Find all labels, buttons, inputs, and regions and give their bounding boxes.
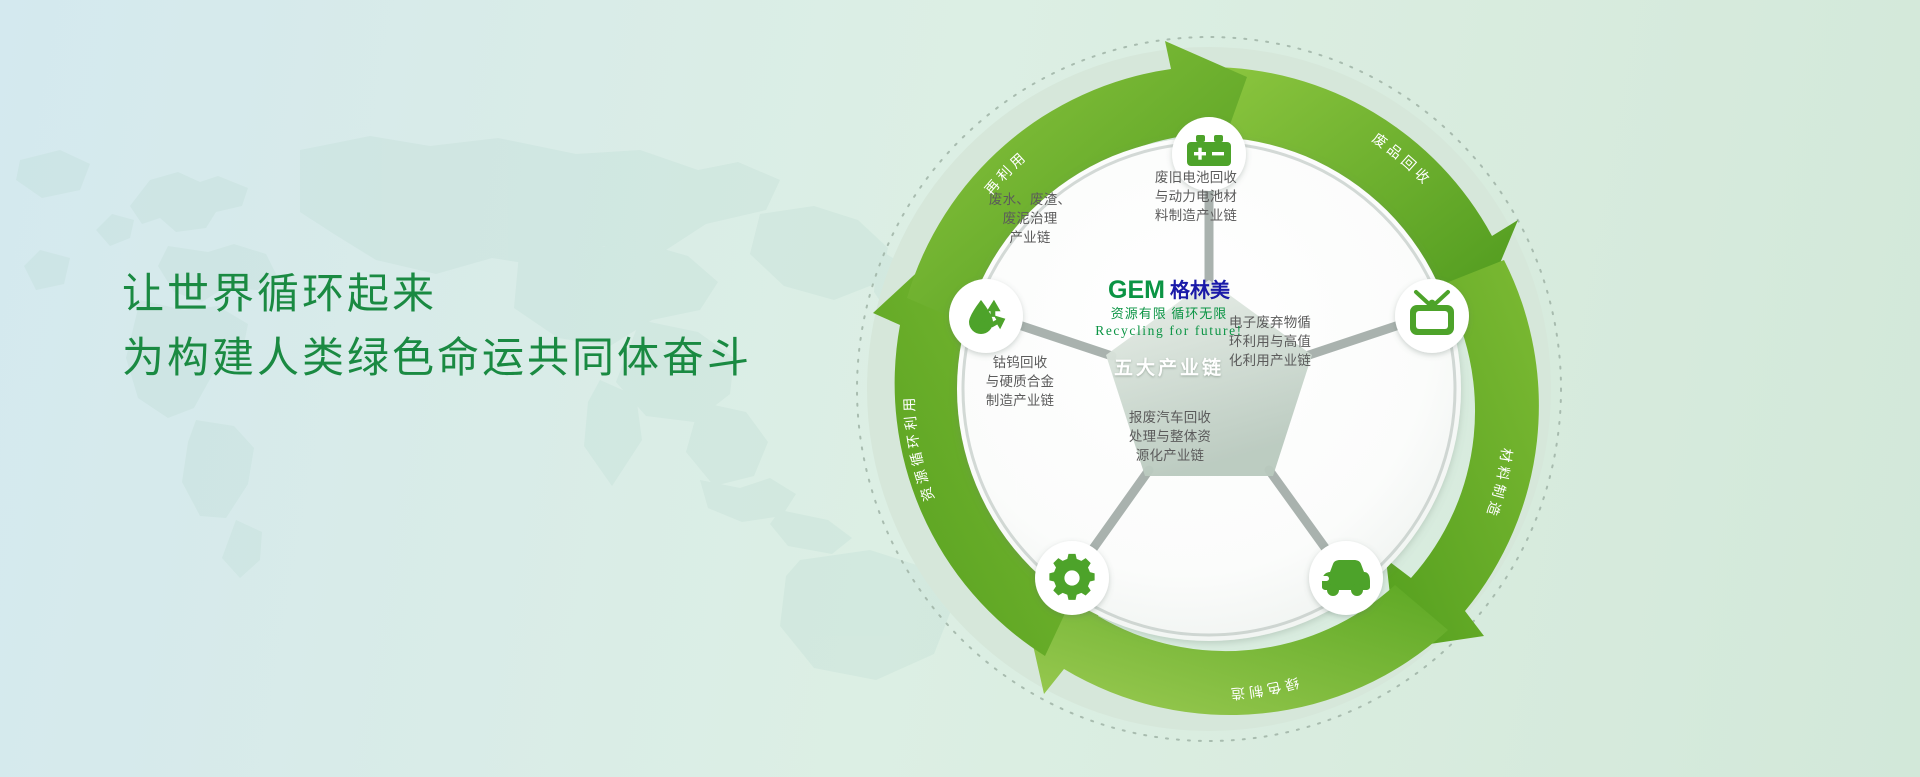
hero-banner: 让世界循环起来 为构建人类绿色命运共同体奋斗 — [0, 0, 1920, 777]
diagram-svg — [828, 8, 1590, 770]
gem-slogan-en: Recycling for future! — [1069, 323, 1269, 339]
headline-line-1: 让世界循环起来 — [122, 262, 752, 326]
industry-chain-diagram: 废水、废渣、 废泥治理 产业链 废旧电池回收 与动力电池材 料制造产业链 电子废… — [828, 8, 1590, 770]
center-logo: GEM 格林美 资源有限 循环无限 Recycling for future! … — [1069, 278, 1269, 380]
gem-letters: GEM — [1108, 278, 1165, 303]
gear-icon — [1049, 554, 1094, 600]
segment-label-battery-recycling: 废旧电池回收 与动力电池材 料制造产业链 — [1126, 168, 1266, 225]
gem-chinese-name: 格林美 — [1170, 280, 1230, 302]
headline-line-2: 为构建人类绿色命运共同体奋斗 — [122, 326, 752, 390]
gem-wordmark: GEM 格林美 — [1069, 278, 1269, 303]
segment-label-auto-recycling: 报废汽车回收 处理与整体资 源化产业链 — [1100, 408, 1240, 465]
segment-label-waste-treatment: 废水、废渣、 废泥治理 产业链 — [960, 190, 1100, 247]
gem-slogan: 资源有限 循环无限 — [1069, 306, 1269, 322]
five-chains-caption: 五大产业链 — [1069, 353, 1269, 380]
headline: 让世界循环起来 为构建人类绿色命运共同体奋斗 — [122, 262, 752, 390]
